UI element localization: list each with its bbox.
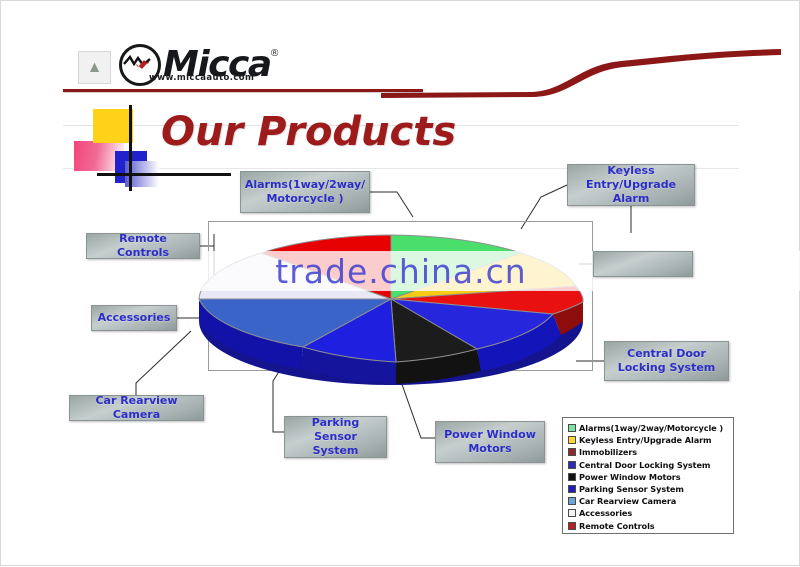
legend-swatch-icon [568,485,576,493]
pie-chart-3d [181,201,601,401]
legend-row[interactable]: Alarms(1way/2way/Motorcycle ) [568,422,729,434]
legend-label: Car Rearview Camera [579,496,676,506]
legend-swatch-icon [568,473,576,481]
callout-accessories[interactable]: Accessories [91,305,177,331]
chart-legend: Alarms(1way/2way/Motorcycle ) Keyless En… [562,417,734,534]
legend-label: Power Window Motors [579,472,681,482]
legend-label: Remote Controls [579,521,655,531]
legend-swatch-icon [568,436,576,444]
legend-label: Accessories [579,508,632,518]
legend-label: Central Door Locking System [579,460,710,470]
legend-row[interactable]: Remote Controls [568,520,729,532]
legend-row[interactable]: Central Door Locking System [568,459,729,471]
slide-page: ▲ Micca ® www.miccaauto.com Our Products [0,0,800,566]
legend-label: Parking Sensor System [579,484,684,494]
callout-blank[interactable] [593,251,693,277]
legend-row[interactable]: Car Rearview Camera [568,495,729,507]
legend-swatch-icon [568,509,576,517]
legend-swatch-icon [568,448,576,456]
callout-parking-sensor[interactable]: Parking Sensor System [284,416,387,458]
callout-keyless-entry[interactable]: Keyless Entry/Upgrade Alarm [567,164,695,206]
legend-swatch-icon [568,424,576,432]
legend-swatch-icon [568,497,576,505]
legend-row[interactable]: Immobilizers [568,446,729,458]
callout-remote-controls[interactable]: Remote Controls [86,233,200,259]
legend-row[interactable]: Keyless Entry/Upgrade Alarm [568,434,729,446]
legend-row[interactable]: Power Window Motors [568,471,729,483]
legend-label: Immobilizers [579,447,637,457]
legend-row[interactable]: Parking Sensor System [568,483,729,495]
legend-swatch-icon [568,461,576,469]
callout-car-rearview-camera[interactable]: Car Rearview Camera [69,395,204,421]
callout-alarms[interactable]: Alarms(1way/2way/ Motorcycle ) [240,171,370,213]
callout-power-window-motors[interactable]: Power Window Motors [435,421,545,463]
legend-label: Alarms(1way/2way/Motorcycle ) [579,423,723,433]
legend-swatch-icon [568,522,576,530]
legend-row[interactable]: Accessories [568,507,729,519]
callout-central-door-locking[interactable]: Central Door Locking System [604,341,729,381]
legend-label: Keyless Entry/Upgrade Alarm [579,435,711,445]
